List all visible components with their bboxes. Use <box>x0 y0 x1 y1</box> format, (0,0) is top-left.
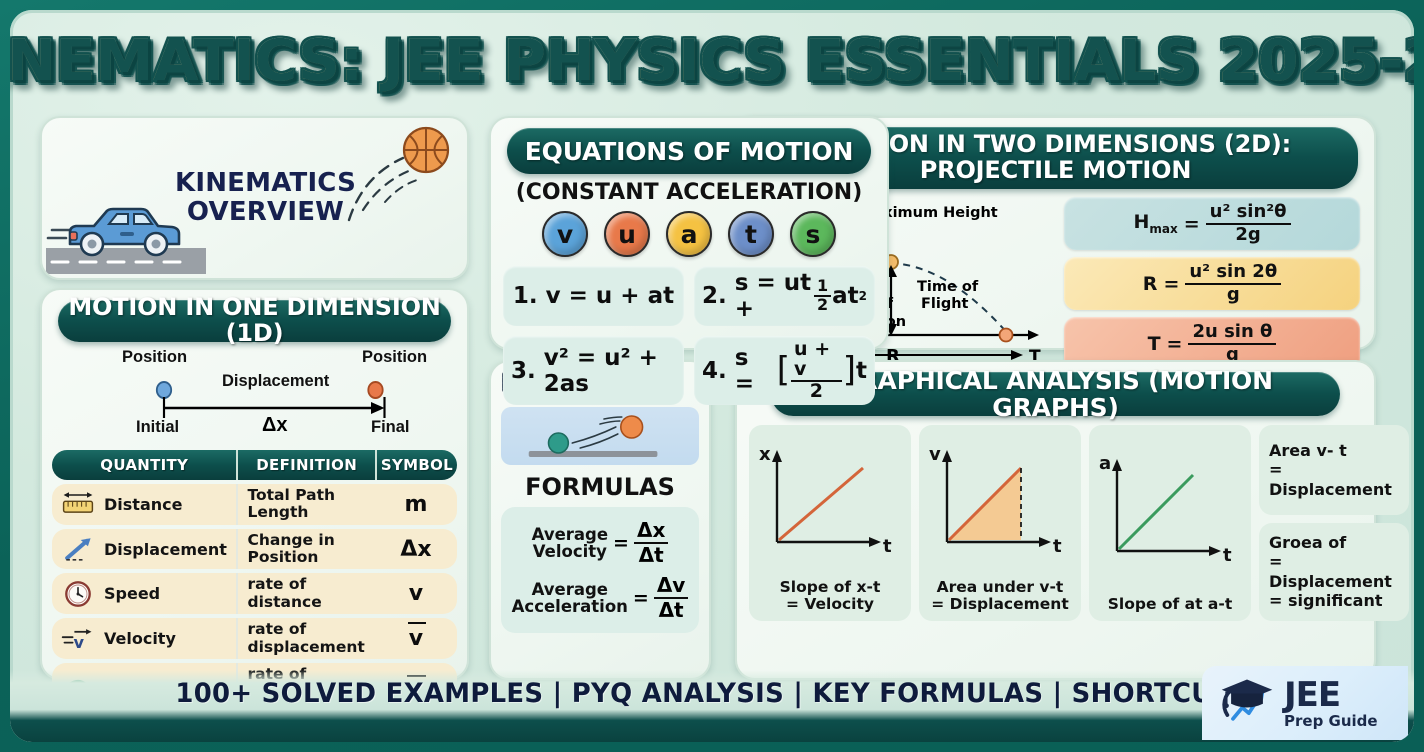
svg-text:v: v <box>74 633 85 652</box>
ruler-icon <box>60 489 96 519</box>
equals-sign: = <box>613 532 629 554</box>
variable-circle-u: u <box>604 211 650 257</box>
brand-logo: JEE Prep Guide <box>1202 666 1408 740</box>
equation-3: 3. v² = u² + 2as <box>503 336 684 405</box>
initial-label: Initial <box>136 418 179 437</box>
graph-vt: v t <box>925 432 1075 577</box>
motion-1d-panel: MOTION IN ONE DIMENSION (1D) Position Po… <box>40 288 469 680</box>
definition-cell: Change in Position <box>236 529 374 570</box>
svg-text:Time of: Time of <box>917 279 979 295</box>
footer-text: 100+ SOLVED EXAMPLES | PYQ ANALYSIS | KE… <box>175 678 1249 709</box>
symbol-cell: m <box>375 484 457 525</box>
graph-notes: Area v- t = Displacement Groea of = Disp… <box>1259 425 1409 621</box>
svg-text:a: a <box>1099 453 1111 474</box>
equation-4-body: s = <box>735 345 769 397</box>
variable-circles: v u a t s <box>503 211 875 257</box>
equation-1-body: v = u + at <box>546 283 674 309</box>
content-grid: KINEMATICS OVERVIEW <box>28 110 1406 688</box>
applicability-illustration <box>501 407 699 465</box>
logo-subtitle: Prep Guide <box>1284 714 1378 729</box>
table-header-row: QUANTITY DEFINITION SYMBOL <box>52 450 457 480</box>
equation-2-tail-sup: 2 <box>859 289 867 303</box>
formula-time-fraction: 2u sin θ g <box>1188 323 1276 365</box>
quantity-name: Velocity <box>104 629 176 648</box>
svg-text:t: t <box>1223 545 1232 566</box>
graph-caption-vt: Area under v-t = Displacement <box>925 579 1075 613</box>
diagonal-arrow-icon <box>60 534 96 564</box>
equations-header: EQUATIONS OF MOTION <box>507 128 871 174</box>
velocity-arrow-icon: v <box>60 624 96 654</box>
table-row: Distance Total Path Length m <box>52 484 457 525</box>
symbol-cell: Δx <box>375 529 457 570</box>
equation-2-index: 2. <box>702 283 727 309</box>
equation-1: 1. v = u + at <box>503 266 684 326</box>
formulas-heading: FORMULAS <box>501 473 699 501</box>
equation-2-tail: at <box>832 283 859 309</box>
quantity-name: Distance <box>104 495 182 514</box>
clock-icon <box>60 579 96 609</box>
formula-fraction: Δv Δt <box>654 575 689 621</box>
formula-range-lhs: R <box>1143 273 1158 295</box>
overview-heading-line2: OVERVIEW <box>187 197 344 227</box>
applicability-panel: APPLICABILITY FORMULAS <box>489 360 711 680</box>
equation-2-body: s = ut + <box>735 270 813 322</box>
quantity-name: Displacement <box>104 540 227 559</box>
graph-caption-at: Slope of at a-t <box>1095 596 1245 613</box>
formula-hmax: Hmax = u² sin²θ 2g <box>1064 197 1360 250</box>
col-symbol: SYMBOL <box>375 450 457 480</box>
variable-circle-a: a <box>666 211 712 257</box>
formula-time-eq: = <box>1167 333 1183 355</box>
formula-range-eq: = <box>1163 273 1179 295</box>
formula-average-velocity: Average Velocity = Δx Δt <box>507 520 693 566</box>
graph-row: x t Slope of x-t = Velocity <box>747 425 1364 621</box>
formula-range: R = u² sin 2θ g <box>1064 257 1360 310</box>
svg-text:v: v <box>929 444 941 465</box>
graduation-cap-chart-icon <box>1218 673 1276 734</box>
formula-hmax-eq: = <box>1184 213 1200 235</box>
position-label-right: Position <box>362 348 427 367</box>
equation-4-fraction: u + v2 <box>791 340 842 401</box>
symbol-cell: v <box>375 618 457 659</box>
formula-hmax-fraction: u² sin²θ 2g <box>1206 203 1291 245</box>
displacement-label: Displacement <box>222 372 329 391</box>
formula-fraction: Δx Δt <box>634 520 668 566</box>
formula-hmax-lhs: Hmax <box>1133 211 1177 236</box>
position-label-left: Position <box>122 348 187 367</box>
equation-3-body: v² = u² + 2as <box>544 345 676 397</box>
graph-xt: x t <box>755 432 905 577</box>
svg-text:x: x <box>759 444 771 465</box>
logo-main: JEE <box>1284 678 1378 712</box>
table-row: Speed rate of distance v <box>52 573 457 614</box>
equals-sign: = <box>633 587 649 609</box>
motion-1d-header: MOTION IN ONE DIMENSION (1D) <box>58 300 451 342</box>
graph-caption-xt: Slope of x-t = Velocity <box>755 579 905 613</box>
equations-subheader: (CONSTANT ACCELERATION) <box>503 180 875 205</box>
svg-text:Flight: Flight <box>921 296 969 312</box>
graph-cell-at: a t Slope of at a-t <box>1089 425 1251 621</box>
displacement-diagram: Position Position Displacement Initial F… <box>74 350 443 442</box>
formula-label: Average Velocity <box>532 526 608 561</box>
equation-1-index: 1. <box>513 283 538 309</box>
equation-4-index: 4. <box>702 358 727 384</box>
equation-2: 2. s = ut +12at2 <box>694 266 875 326</box>
formula-time-lhs: T <box>1148 333 1161 355</box>
col-quantity: QUANTITY <box>52 450 236 480</box>
graphical-analysis-panel: GRAPHICAL ANALYSIS (MOTION GRAPHS) x t <box>735 360 1376 680</box>
variable-circle-s: s <box>790 211 836 257</box>
poster-root: KINEMATICS: JEE PHYSICS ESSENTIALS 2025-… <box>0 0 1424 752</box>
svg-text:t: t <box>883 536 892 557</box>
graph-note-1: Area v- t = Displacement <box>1259 425 1409 515</box>
table-row: Displacement Change in Position Δx <box>52 529 457 570</box>
equation-4: 4. s = [u + v2]t <box>694 336 875 405</box>
svg-text:t: t <box>1053 536 1062 557</box>
equations-of-motion-panel: EQUATIONS OF MOTION (CONSTANT ACCELERATI… <box>489 116 889 350</box>
graph-at: a t <box>1095 432 1245 594</box>
motion-2d-header-line1: MOTION IN TWO DIMENSIONS (2D): <box>820 130 1291 158</box>
graph-note-2: Groea of = Displacement = significant <box>1259 523 1409 621</box>
graph-cell-xt: x t Slope of x-t = Velocity <box>749 425 911 621</box>
equation-grid: 1. v = u + at 2. s = ut +12at2 3. v² = u… <box>503 266 875 405</box>
bracket-open: [ <box>777 357 790 384</box>
basketball-icon <box>341 124 461 224</box>
definition-cell: Total Path Length <box>236 484 374 525</box>
variable-circle-v: v <box>542 211 588 257</box>
formula-average-acceleration: Average Acceleration = Δv Δt <box>507 575 693 621</box>
symbol-cell: v <box>375 573 457 614</box>
poster-inner: KINEMATICS: JEE PHYSICS ESSENTIALS 2025-… <box>10 10 1414 742</box>
delta-x-label: Δx <box>262 414 288 437</box>
symbol-vector-v: v <box>409 628 423 650</box>
graph-cell-vt: v t Area under v-t = Displacement <box>919 425 1081 621</box>
definition-cell: rate of distance <box>236 573 374 614</box>
page-title: KINEMATICS: JEE PHYSICS ESSENTIALS 2025-… <box>10 28 1414 94</box>
projectile-formulas: Hmax = u² sin²θ 2g R = u² sin 2θ g <box>1064 195 1360 370</box>
formula-label: Average Acceleration <box>512 581 628 616</box>
final-label: Final <box>371 418 410 437</box>
formula-range-fraction: u² sin 2θ g <box>1185 263 1281 305</box>
equation-3-index: 3. <box>511 358 536 384</box>
variable-circle-t: t <box>728 211 774 257</box>
equation-4-tail: t <box>856 358 867 384</box>
definition-cell: rate of displacement <box>236 618 374 659</box>
car-icon <box>46 174 206 274</box>
equation-2-fraction: 12 <box>814 278 831 313</box>
formulas-box: Average Velocity = Δx Δt Average Acceler… <box>501 507 699 633</box>
title-bar: KINEMATICS: JEE PHYSICS ESSENTIALS 2025-… <box>10 10 1414 106</box>
table-row: v Velocity rate of displacement v <box>52 618 457 659</box>
logo-text: JEE Prep Guide <box>1284 678 1378 729</box>
kinematics-overview-panel: KINEMATICS OVERVIEW <box>40 116 469 280</box>
bracket-close: ] <box>843 357 856 384</box>
quantity-name: Speed <box>104 584 160 603</box>
col-definition: DEFINITION <box>236 450 374 480</box>
motion-2d-header-line2: PROJECTILE MOTION <box>920 156 1191 184</box>
